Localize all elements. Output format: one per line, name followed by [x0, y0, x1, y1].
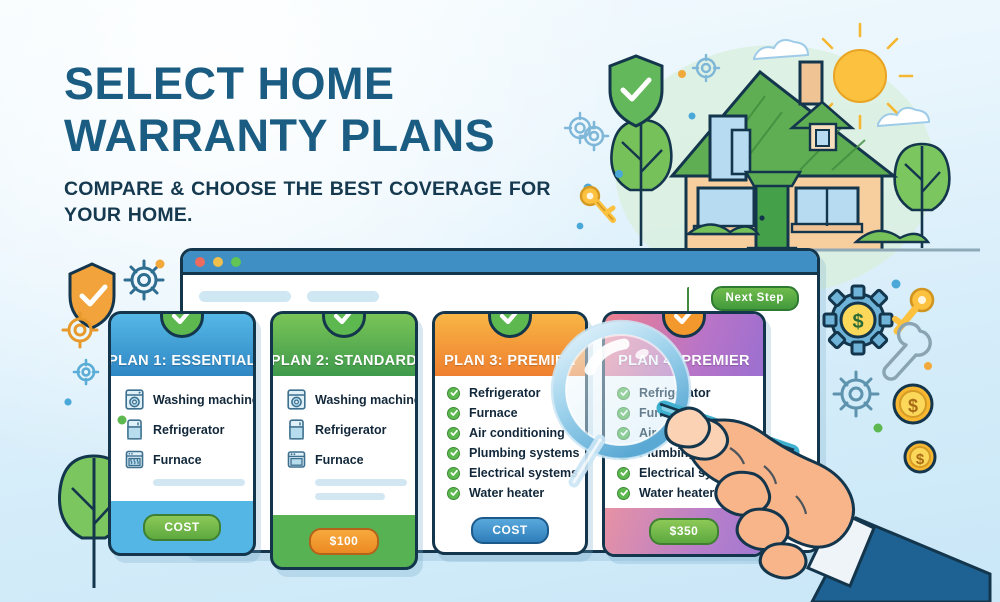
close-icon[interactable]	[195, 257, 205, 267]
plan-feature-list: Refrigerator Furnace Air conditioning Pl…	[435, 376, 585, 508]
refrigerator-icon	[287, 419, 306, 440]
list-item: Refrigerator	[447, 386, 573, 400]
minimize-icon[interactable]	[213, 257, 223, 267]
maximize-icon[interactable]	[231, 257, 241, 267]
check-icon	[617, 427, 630, 440]
check-icon	[447, 487, 460, 500]
washing-machine-icon	[287, 389, 306, 410]
key-icon	[581, 187, 613, 220]
feature-label: Refrigerator	[315, 423, 387, 437]
plan-card-footer: COST	[111, 501, 253, 553]
placeholder-bar	[307, 291, 379, 302]
infographic-canvas: Select Home Warranty Plans Compare & cho…	[0, 0, 1000, 602]
feature-label: Furnace	[153, 453, 202, 467]
placeholder-bar	[199, 291, 291, 302]
list-item: Plumbing systems	[447, 446, 573, 460]
list-item: Refrigerator	[287, 419, 401, 440]
check-icon	[447, 387, 460, 400]
placeholder-bar	[153, 479, 245, 486]
gear-icon	[580, 122, 608, 150]
feature-label: Air conditioning	[469, 426, 565, 440]
plan-feature-list: Washing machine Refrigerator Fur	[273, 376, 415, 515]
plan-card-footer: COST	[435, 508, 585, 552]
plan-title: PLAN 3: PREMIER	[444, 353, 576, 369]
oven-icon	[287, 449, 306, 470]
dollar-gear-icon: $	[824, 286, 892, 354]
list-item: Washing machine	[287, 389, 401, 410]
plan-card-premier-3[interactable]: PLAN 3: PREMIER Refrigerator Furnace Air…	[432, 311, 588, 555]
feature-label: Furnace	[315, 453, 364, 467]
headline-block: Select Home Warranty Plans Compare & cho…	[64, 58, 584, 228]
placeholder-bar	[315, 479, 407, 486]
window-titlebar	[183, 251, 817, 275]
plan-price-button[interactable]: COST	[143, 514, 220, 541]
list-item: Air conditioning	[447, 426, 573, 440]
check-icon	[617, 447, 630, 460]
check-icon	[488, 311, 532, 338]
left-decor-group	[56, 252, 196, 452]
plan-price-button[interactable]: COST	[471, 517, 548, 544]
svg-text:$: $	[852, 311, 863, 333]
page-title: Select Home Warranty Plans	[64, 58, 584, 162]
plan-title: PLAN 4: PREMIER	[618, 353, 750, 369]
placeholder-bar	[315, 493, 385, 500]
check-icon	[662, 311, 706, 338]
page-subtitle: Compare & choose the best coverage for y…	[64, 176, 554, 228]
check-icon	[617, 467, 630, 480]
hand-with-pen-icon	[660, 378, 1000, 602]
check-icon	[617, 387, 630, 400]
plan-card-standard[interactable]: PLAN 2: STANDARD Washing machine	[270, 311, 418, 570]
list-item: Furnace	[287, 449, 401, 470]
check-icon	[447, 427, 460, 440]
plan-title: PLAN 2: STANDARD	[271, 353, 417, 369]
feature-label: Refrigerator	[469, 386, 541, 400]
feature-label: Washing machine	[315, 393, 418, 407]
check-icon	[447, 447, 460, 460]
wrench-icon	[884, 324, 930, 379]
plan-card-header: PLAN 4: PREMIER	[605, 314, 763, 376]
plan-price-button[interactable]: $100	[309, 528, 380, 555]
list-item: Furnace	[125, 449, 239, 470]
check-icon	[447, 407, 460, 420]
check-icon	[617, 407, 630, 420]
feature-label: Electrical systems	[469, 466, 578, 480]
feature-label: Plumbing systems	[469, 446, 579, 460]
cloud-icon	[754, 40, 808, 59]
feature-label: Furnace	[469, 406, 518, 420]
plan-card-header: PLAN 2: STANDARD	[273, 314, 415, 376]
gear-icon	[74, 360, 98, 384]
list-item: Furnace	[447, 406, 573, 420]
feature-label: Water heater	[469, 486, 544, 500]
check-icon	[617, 487, 630, 500]
check-icon	[447, 467, 460, 480]
next-step-button[interactable]: Next Step	[711, 286, 799, 311]
plan-card-footer: $100	[273, 515, 415, 567]
list-item: Electrical systems	[447, 466, 573, 480]
check-icon	[322, 311, 366, 338]
furnace-icon	[125, 449, 144, 470]
list-item: Water heater	[447, 486, 573, 500]
plan-card-header: PLAN 3: PREMIER	[435, 314, 585, 376]
